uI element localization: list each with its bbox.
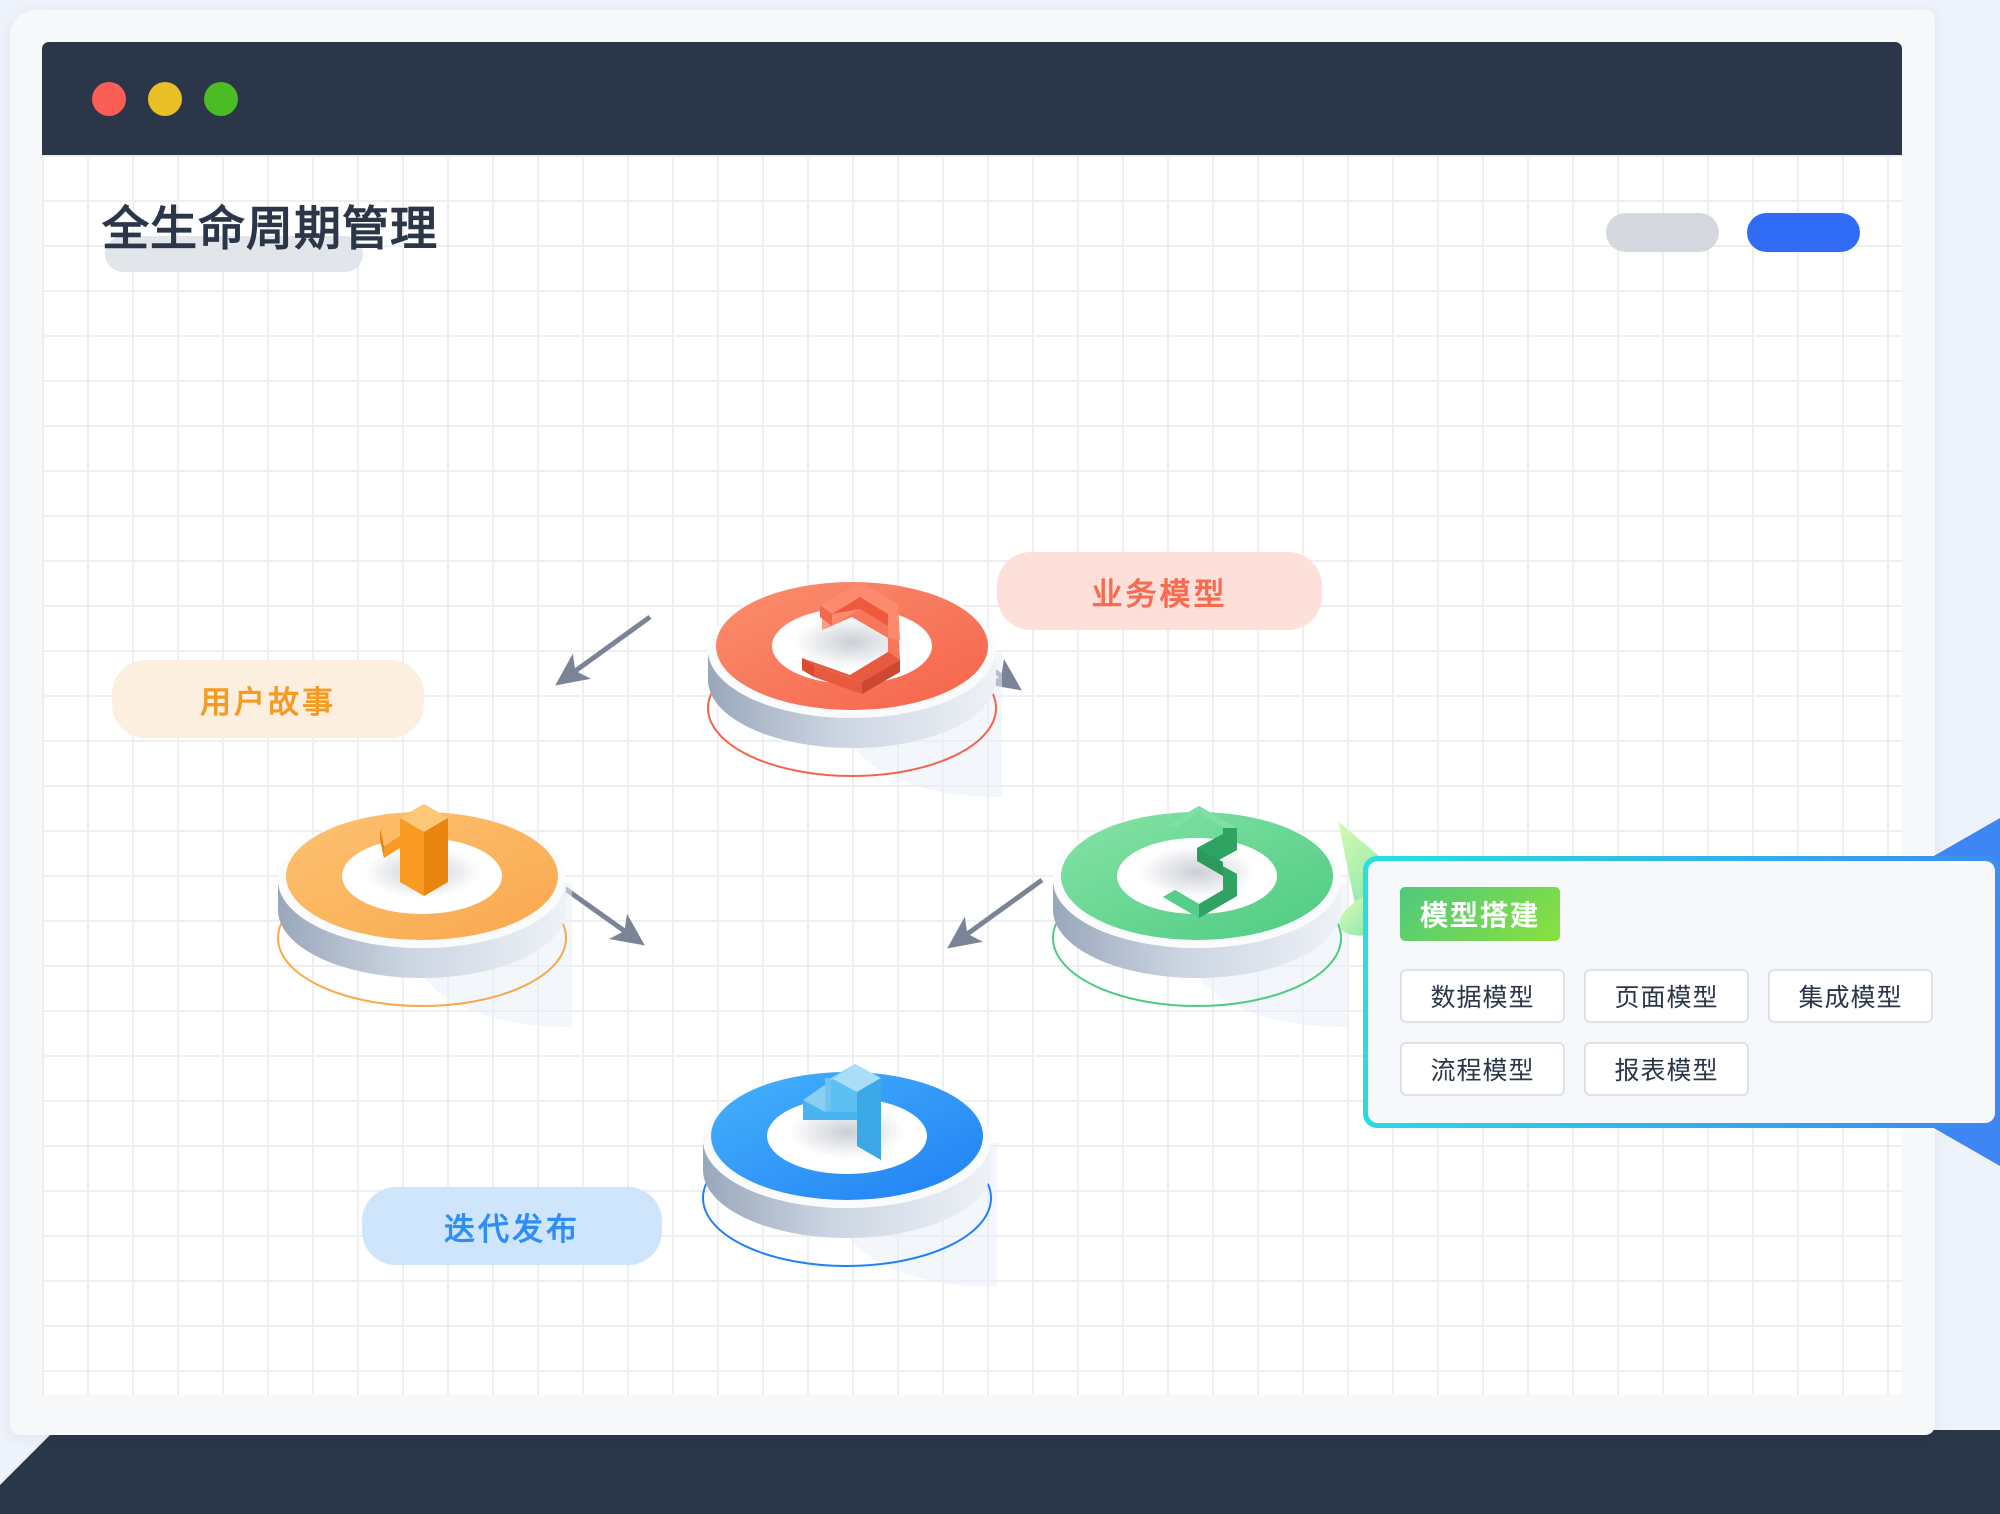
step-disc-4[interactable] — [697, 1000, 997, 1290]
close-button-icon[interactable] — [92, 82, 126, 116]
arrow-2-to-1 — [560, 617, 650, 682]
popup-content: 模型搭建 数据模型 页面模型 集成模型 流程模型 报表模型 — [1368, 861, 1995, 1123]
tag-iteration-release[interactable]: 迭代发布 — [362, 1187, 662, 1265]
page-title-group: 全生命周期管理 — [102, 190, 438, 259]
tag-business-model[interactable]: 业务模型 — [997, 552, 1322, 630]
tag-user-story[interactable]: 用户故事 — [112, 660, 424, 738]
window-titlebar — [42, 42, 1902, 155]
model-button-report[interactable]: 报表模型 — [1584, 1042, 1749, 1096]
model-type-list: 数据模型 页面模型 集成模型 流程模型 报表模型 — [1400, 969, 1940, 1096]
step-disc-3[interactable] — [1047, 740, 1347, 1030]
page-title: 全生命周期管理 — [102, 190, 438, 259]
model-build-popup: 模型搭建 数据模型 页面模型 集成模型 流程模型 报表模型 — [1363, 818, 2000, 1166]
step-disc-1[interactable] — [272, 740, 572, 1030]
minimize-button-icon[interactable] — [148, 82, 182, 116]
arrow-3-to-4 — [952, 880, 1042, 945]
app-stage: 全生命周期管理 用户故事 业务模型 迭代发布 — [0, 0, 2000, 1514]
model-button-process[interactable]: 流程模型 — [1400, 1042, 1565, 1096]
maximize-button-icon[interactable] — [204, 82, 238, 116]
secondary-action-button[interactable] — [1606, 213, 1719, 252]
popup-border: 模型搭建 数据模型 页面模型 集成模型 流程模型 报表模型 — [1363, 856, 2000, 1128]
popup-tag-model-build[interactable]: 模型搭建 — [1400, 887, 1560, 941]
model-button-page[interactable]: 页面模型 — [1584, 969, 1749, 1023]
window-base-stand — [0, 1430, 2000, 1514]
diagram-canvas: 全生命周期管理 用户故事 业务模型 迭代发布 — [42, 155, 1902, 1395]
step-disc-2[interactable] — [702, 510, 1002, 800]
model-button-integration[interactable]: 集成模型 — [1768, 969, 1933, 1023]
primary-action-button[interactable] — [1747, 213, 1860, 252]
model-button-data[interactable]: 数据模型 — [1400, 969, 1565, 1023]
header-actions — [1606, 213, 1860, 252]
